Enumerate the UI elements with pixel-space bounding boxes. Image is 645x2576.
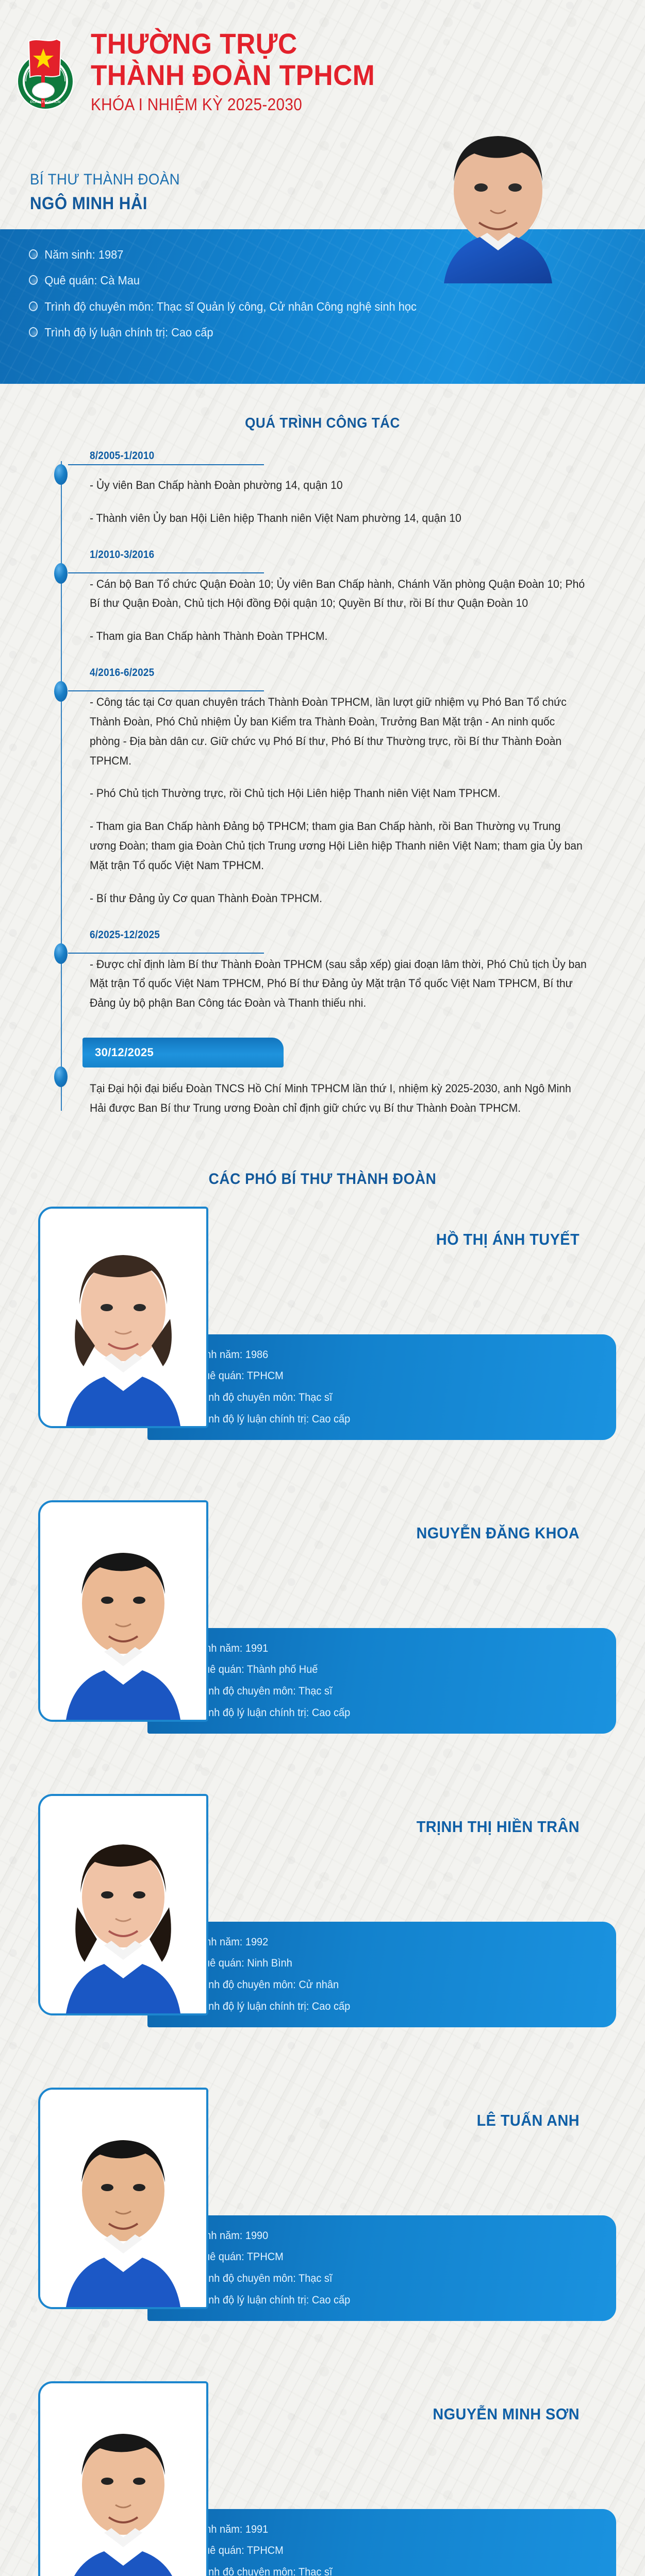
deputy-card: LÊ TUẤN ANH Sinh năm: 1990 Quê quán: TPH… — [0, 2088, 645, 2376]
timeline-item: 6/2025-12/2025 - Được chỉ định làm Bí th… — [61, 911, 609, 1016]
list-item: Quê quán: Thành phố Huế — [181, 1663, 578, 1677]
timeline-paragraph: - Bí thư Đảng ủy Cơ quan Thành Đoàn TPHC… — [90, 889, 588, 908]
timeline-date: 8/2005-1/2010 — [90, 450, 154, 462]
timeline-item: 8/2005-1/2010 - Ủy viên Ban Chấp hành Đo… — [61, 450, 609, 531]
timeline-paragraph: - Ủy viên Ban Chấp hành Đoàn phường 14, … — [90, 476, 588, 495]
timeline-paragraph: - Tham gia Ban Chấp hành Đảng bộ TPHCM; … — [90, 817, 588, 875]
timeline-rule — [68, 572, 264, 573]
deputy-info-box: Sinh năm: 1991 Quê quán: TPHCM Trình độ … — [147, 2509, 616, 2576]
deputy-info-box: Sinh năm: 1991 Quê quán: Thành phố Huế T… — [147, 1628, 616, 1734]
deputy-info-text: Trình độ lý luận chính trị: Cao cấp — [196, 2293, 351, 2308]
deputy-info-text: Trình độ chuyên môn: Cử nhân — [196, 1978, 339, 1992]
secretary-section: BÍ THƯ THÀNH ĐOÀN NGÔ MINH HẢI Năm sinh:… — [0, 165, 645, 384]
deputy-card: NGUYỄN ĐĂNG KHOA Sinh năm: 1991 Quê quán… — [0, 1500, 645, 1789]
timeline-body: - Cán bộ Ban Tổ chức Quận Đoàn 10; Ủy vi… — [90, 574, 588, 646]
timeline-rule — [68, 953, 264, 954]
list-item: Năm sinh: 1987 — [29, 247, 467, 262]
list-item: Trình độ chuyên môn: Thạc sĩ — [181, 1684, 578, 1699]
list-item: Trình độ chuyên môn: Thạc sĩ — [181, 1391, 578, 1405]
timeline-rule — [68, 464, 264, 465]
timeline-date-badge: 30/12/2025 — [82, 1038, 284, 1067]
timeline-node-icon — [54, 943, 68, 964]
deputy-info-text: Trình độ lý luận chính trị: Cao cấp — [196, 1706, 351, 1720]
svg-text:ĐOÀN TNCS HCM: ĐOÀN TNCS HCM — [30, 99, 61, 104]
list-item: Trình độ lý luận chính trị: Cao cấp — [181, 1999, 578, 2014]
deputy-photo — [38, 1500, 208, 1722]
deputy-info-text: Quê quán: TPHCM — [196, 2250, 284, 2264]
deputies-section-title: CÁC PHÓ BÍ THƯ THÀNH ĐOÀN — [23, 1126, 622, 1207]
list-item: Quê quán: Ninh Bình — [181, 1956, 578, 1971]
timeline-paragraph: - Được chỉ định làm Bí thư Thành Đoàn TP… — [90, 955, 588, 1013]
page-title-line2: THÀNH ĐOÀN TPHCM — [91, 60, 375, 90]
list-item: Sinh năm: 1992 — [181, 1935, 578, 1950]
timeline-item-highlighted: 30/12/2025 Tại Đại hội đại biểu Đoàn TNC… — [61, 1016, 609, 1121]
bullet-circle-icon — [29, 301, 38, 311]
timeline-body: - Ủy viên Ban Chấp hành Đoàn phường 14, … — [90, 476, 588, 528]
list-item: Trình độ lý luận chính trị: Cao cấp — [181, 1412, 578, 1427]
timeline-item: 1/2010-3/2016 - Cán bộ Ban Tổ chức Quận … — [61, 531, 609, 649]
bullet-circle-icon — [29, 275, 38, 285]
timeline-node-icon — [54, 563, 68, 584]
timeline-body: Tại Đại hội đại biểu Đoàn TNCS Hồ Chí Mi… — [90, 1079, 588, 1118]
timeline-body: - Công tác tại Cơ quan chuyên trách Thàn… — [90, 692, 588, 908]
list-item: Trình độ chuyên môn: Cử nhân — [181, 1978, 578, 1992]
deputy-info-text: Quê quán: Ninh Bình — [196, 1956, 292, 1971]
timeline-node-icon — [54, 1066, 68, 1087]
list-item: Sinh năm: 1990 — [181, 2229, 578, 2243]
secretary-photo — [413, 103, 583, 283]
timeline-date: 1/2010-3/2016 — [90, 549, 154, 561]
deputy-photo — [38, 1207, 208, 1428]
bullet-circle-icon — [29, 249, 38, 259]
deputy-photo — [38, 2381, 208, 2576]
list-item: Sinh năm: 1991 — [181, 2522, 578, 2537]
list-item: Trình độ chuyên môn: Thạc sĩ Quản lý côn… — [29, 299, 467, 314]
deputy-card: HỒ THỊ ÁNH TUYẾT Sinh năm: 1986 Quê quán… — [0, 1207, 645, 1495]
timeline-body: - Được chỉ định làm Bí thư Thành Đoàn TP… — [90, 955, 588, 1013]
list-item: Trình độ lý luận chính trị: Cao cấp — [29, 325, 467, 340]
list-item: Trình độ chuyên môn: Thạc sĩ — [181, 2565, 578, 2576]
bullet-circle-icon — [29, 327, 38, 337]
deputy-info-box: Sinh năm: 1990 Quê quán: TPHCM Trình độ … — [147, 2215, 616, 2321]
list-item: Quê quán: TPHCM — [181, 2250, 578, 2264]
page-subtitle: KHÓA I NHIỆM KỲ 2025-2030 — [91, 95, 369, 114]
timeline-paragraph: - Công tác tại Cơ quan chuyên trách Thàn… — [90, 692, 588, 770]
timeline-date: 6/2025-12/2025 — [90, 929, 160, 941]
career-timeline: 8/2005-1/2010 - Ủy viên Ban Chấp hành Đo… — [61, 450, 645, 1126]
secretary-info-text: Quê quán: Cà Mau — [44, 273, 140, 288]
list-item: Quê quán: TPHCM — [181, 2544, 578, 2558]
timeline-paragraph: - Thành viên Ủy ban Hội Liên hiệp Thanh … — [90, 509, 588, 528]
infographic-page: ĐOÀN TNCS HCM THƯỜNG TRỰC THÀNH ĐOÀN TPH… — [0, 0, 645, 2576]
deputy-info-text: Trình độ lý luận chính trị: Cao cấp — [196, 1999, 351, 2014]
timeline-paragraph: - Cán bộ Ban Tổ chức Quận Đoàn 10; Ủy vi… — [90, 574, 588, 614]
deputy-info-text: Trình độ chuyên môn: Thạc sĩ — [196, 1684, 333, 1699]
timeline-item: 4/2016-6/2025 - Công tác tại Cơ quan chu… — [61, 649, 609, 911]
doan-tncs-ho-chi-minh-emblem-icon: ĐOÀN TNCS HCM — [13, 26, 81, 113]
secretary-info-text: Trình độ lý luận chính trị: Cao cấp — [44, 325, 213, 340]
deputy-info-box: Sinh năm: 1992 Quê quán: Ninh Bình Trình… — [147, 1922, 616, 2027]
timeline-paragraph: - Phó Chủ tịch Thường trực, rồi Chủ tịch… — [90, 784, 588, 803]
timeline-node-icon — [54, 464, 68, 485]
list-item: Quê quán: Cà Mau — [29, 273, 467, 288]
deputy-info-text: Trình độ lý luận chính trị: Cao cấp — [196, 1412, 351, 1427]
list-item: Quê quán: TPHCM — [181, 1369, 578, 1383]
deputy-info-text: Quê quán: TPHCM — [196, 2544, 284, 2558]
list-item: Trình độ lý luận chính trị: Cao cấp — [181, 2293, 578, 2308]
page-title-line1: THƯỜNG TRỰC — [91, 29, 375, 58]
timeline-paragraph: - Tham gia Ban Chấp hành Thành Đoàn TPHC… — [90, 626, 588, 646]
deputy-photo — [38, 1794, 208, 2015]
list-item: Sinh năm: 1986 — [181, 1348, 578, 1362]
deputy-info-text: Trình độ chuyên môn: Thạc sĩ — [196, 2565, 333, 2576]
deputy-info-text: Quê quán: TPHCM — [196, 1369, 284, 1383]
secretary-info-text: Năm sinh: 1987 — [44, 247, 123, 262]
timeline-rule — [68, 690, 264, 691]
header-titles: THƯỜNG TRỰC THÀNH ĐOÀN TPHCM KHÓA I NHIỆ… — [91, 26, 400, 114]
timeline-paragraph: Tại Đại hội đại biểu Đoàn TNCS Hồ Chí Mi… — [90, 1079, 588, 1118]
deputy-photo — [38, 2088, 208, 2309]
secretary-info-text: Trình độ chuyên môn: Thạc sĩ Quản lý côn… — [44, 299, 417, 314]
deputy-info-box: Sinh năm: 1986 Quê quán: TPHCM Trình độ … — [147, 1334, 616, 1440]
career-section-title: QUÁ TRÌNH CÔNG TÁC — [23, 384, 622, 450]
deputy-card: NGUYỄN MINH SƠN Sinh năm: 1991 Quê quán:… — [0, 2381, 645, 2576]
timeline-date: 4/2016-6/2025 — [90, 667, 154, 679]
deputy-card: TRỊNH THỊ HIỀN TRÂN Sinh năm: 1992 Quê q… — [0, 1794, 645, 2082]
deputy-info-text: Trình độ chuyên môn: Thạc sĩ — [196, 2272, 333, 2286]
deputy-info-text: Quê quán: Thành phố Huế — [196, 1663, 318, 1677]
timeline-node-icon — [54, 681, 68, 702]
list-item: Sinh năm: 1991 — [181, 1641, 578, 1656]
list-item: Trình độ lý luận chính trị: Cao cấp — [181, 1706, 578, 1720]
deputy-info-text: Trình độ chuyên môn: Thạc sĩ — [196, 1391, 333, 1405]
list-item: Trình độ chuyên môn: Thạc sĩ — [181, 2272, 578, 2286]
